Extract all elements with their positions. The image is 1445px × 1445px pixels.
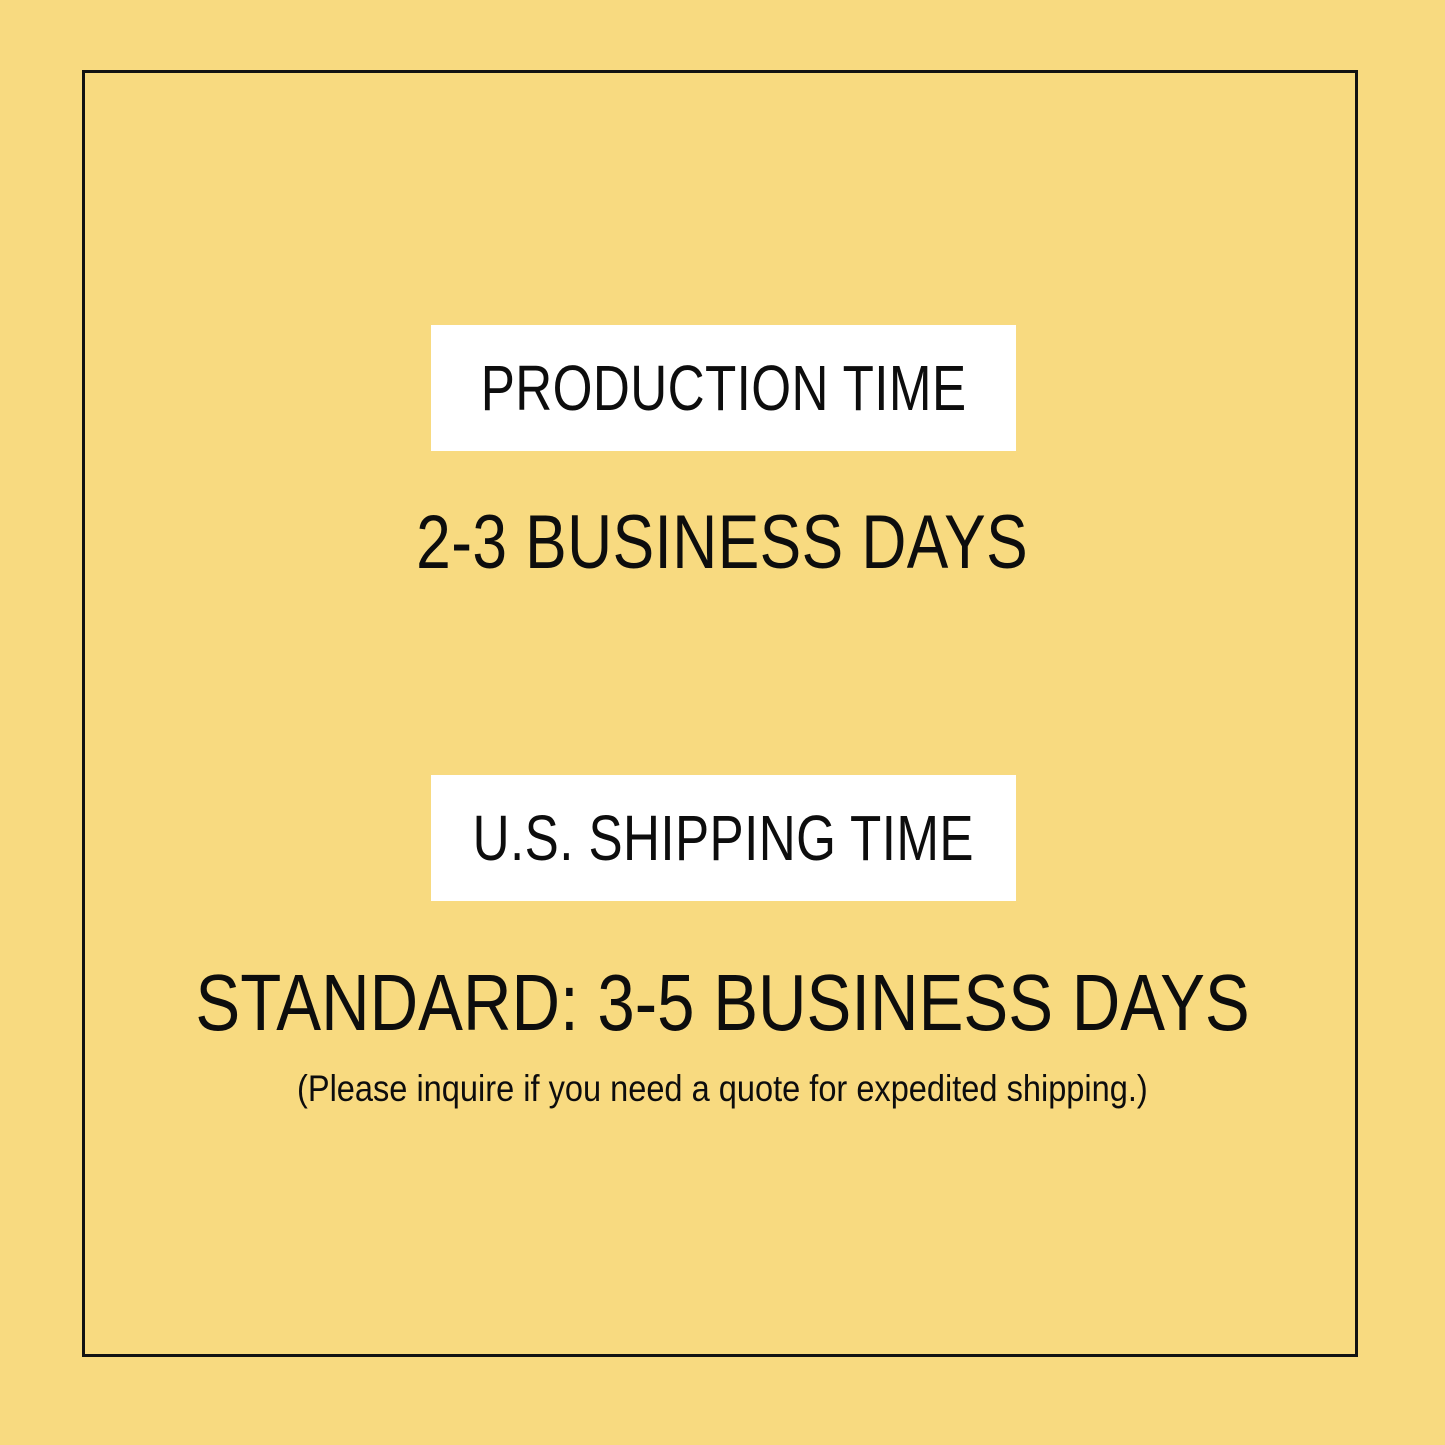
shipping-time-value-row: STANDARD: 3-5 BUSINESS DAYS: [0, 963, 1445, 1043]
content-area: PRODUCTION TIME 2-3 BUSINESS DAYS U.S. S…: [0, 0, 1445, 1445]
production-time-value: 2-3 BUSINESS DAYS: [417, 505, 1029, 581]
shipping-time-value: STANDARD: 3-5 BUSINESS DAYS: [195, 963, 1249, 1043]
shipping-info-graphic: PRODUCTION TIME 2-3 BUSINESS DAYS U.S. S…: [0, 0, 1445, 1445]
production-time-label: PRODUCTION TIME: [481, 356, 967, 420]
expedited-shipping-note-row: (Please inquire if you need a quote for …: [0, 1070, 1445, 1107]
production-time-label-box: PRODUCTION TIME: [431, 325, 1016, 451]
shipping-time-label: U.S. SHIPPING TIME: [473, 806, 974, 870]
expedited-shipping-note: (Please inquire if you need a quote for …: [297, 1070, 1148, 1107]
production-time-value-row: 2-3 BUSINESS DAYS: [0, 505, 1445, 581]
shipping-time-label-box: U.S. SHIPPING TIME: [431, 775, 1016, 901]
